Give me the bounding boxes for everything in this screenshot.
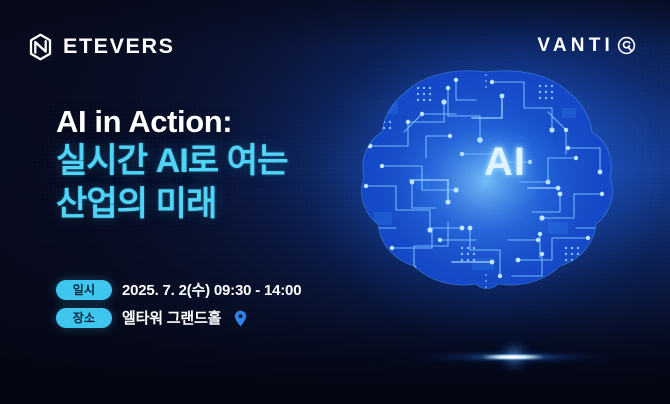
venue-badge: 장소 [56, 308, 112, 328]
lens-flare-core [482, 355, 544, 359]
event-date-row: 일시 2025. 7. 2(수) 09:30 - 14:00 [56, 280, 301, 300]
venue-value: 엘타워 그랜드홀 [122, 311, 221, 326]
etevers-logo-text: ETEVERS [63, 36, 175, 58]
event-info-block: 일시 2025. 7. 2(수) 09:30 - 14:00 장소 엘타워 그랜… [56, 280, 301, 336]
etevers-logo: ETEVERS [27, 33, 175, 61]
date-value: 2025. 7. 2(수) 09:30 - 14:00 [122, 283, 301, 298]
headline-line-1: AI in Action: [56, 104, 288, 140]
vantiq-logo: VANTI [537, 36, 636, 55]
date-badge: 일시 [56, 280, 112, 300]
event-banner: AI ETEVERS VANTI AI in Action: 실시간 AI로 여… [0, 0, 670, 404]
event-venue-row: 장소 엘타워 그랜드홀 [56, 308, 301, 328]
vantiq-logo-text: VANTI [537, 36, 614, 55]
headline-block: AI in Action: 실시간 AI로 여는 산업의 미래 [56, 104, 288, 226]
headline-line-3: 산업의 미래 [56, 183, 288, 226]
vantiq-q-icon [617, 36, 636, 55]
etevers-logo-mark [27, 33, 54, 61]
headline-line-2: 실시간 AI로 여는 [56, 140, 288, 183]
ai-brain-graphic: AI [352, 62, 620, 300]
brain-ai-label: AI [462, 140, 548, 185]
location-pin-icon [234, 310, 247, 327]
